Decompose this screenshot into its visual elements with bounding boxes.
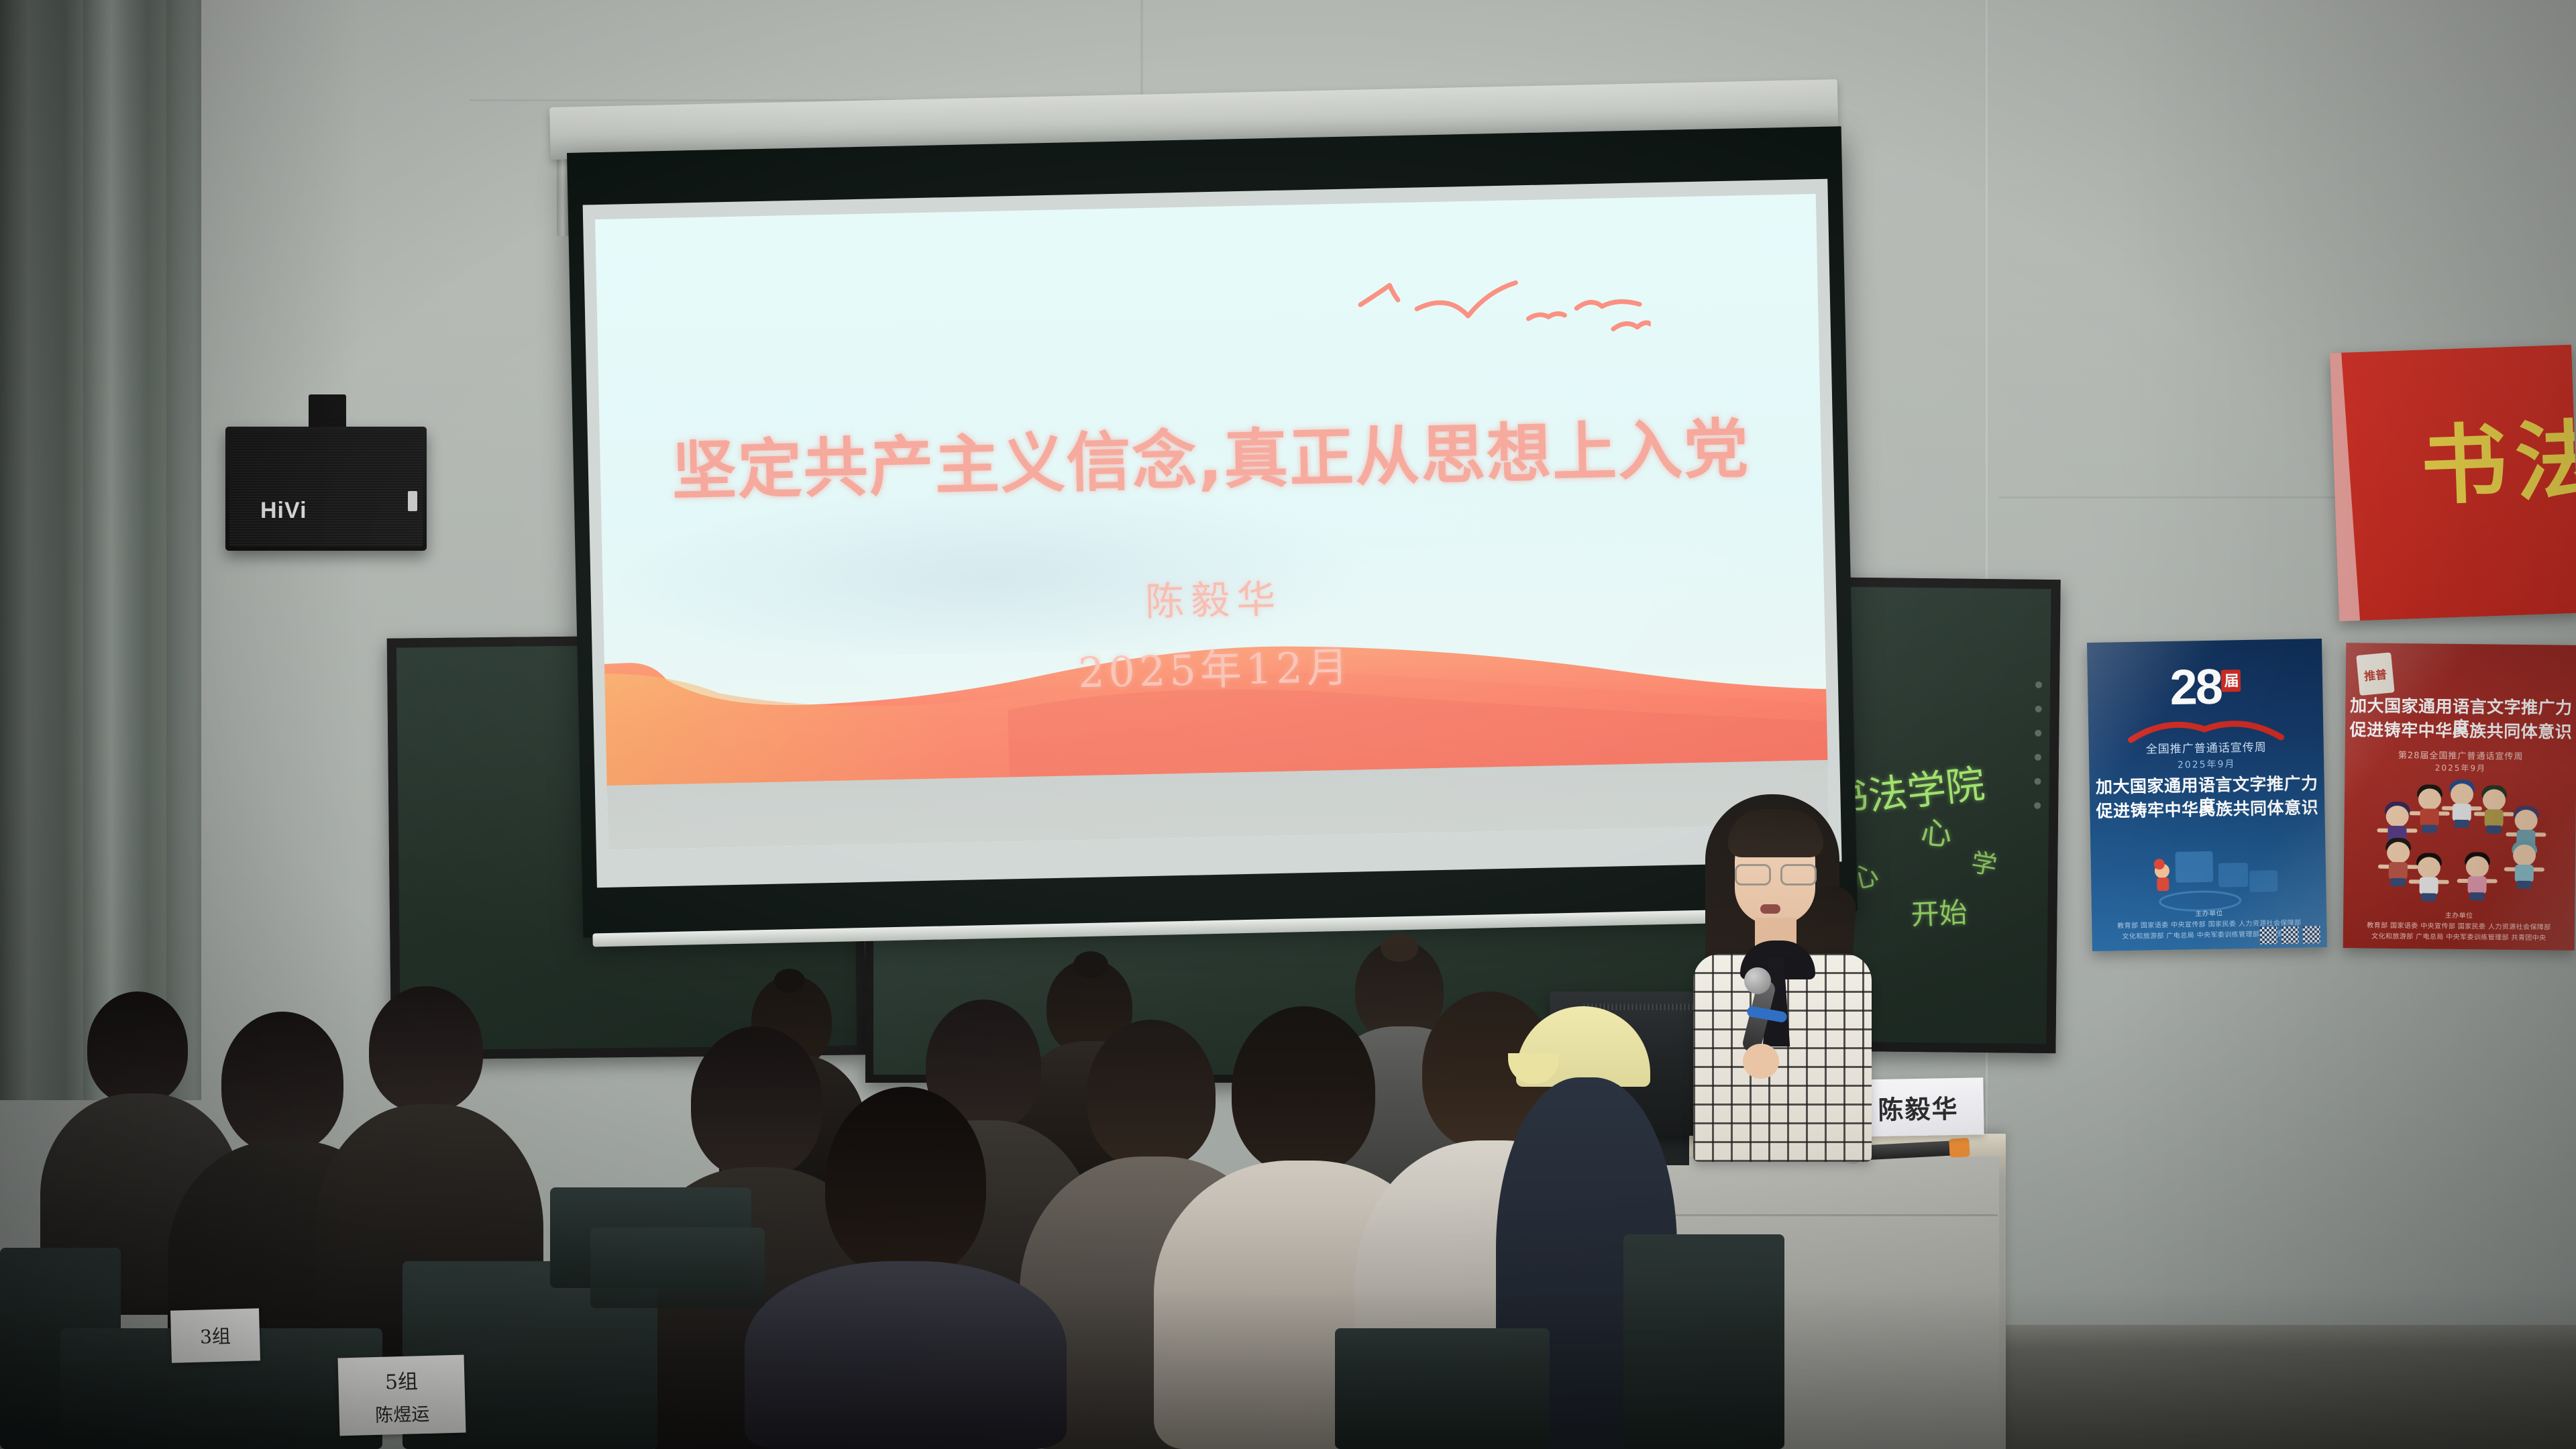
lecture-hall-photo: HiVi 书法学院 心 心 开始 学 [0, 0, 2576, 1449]
wall-shading [0, 0, 2576, 1449]
